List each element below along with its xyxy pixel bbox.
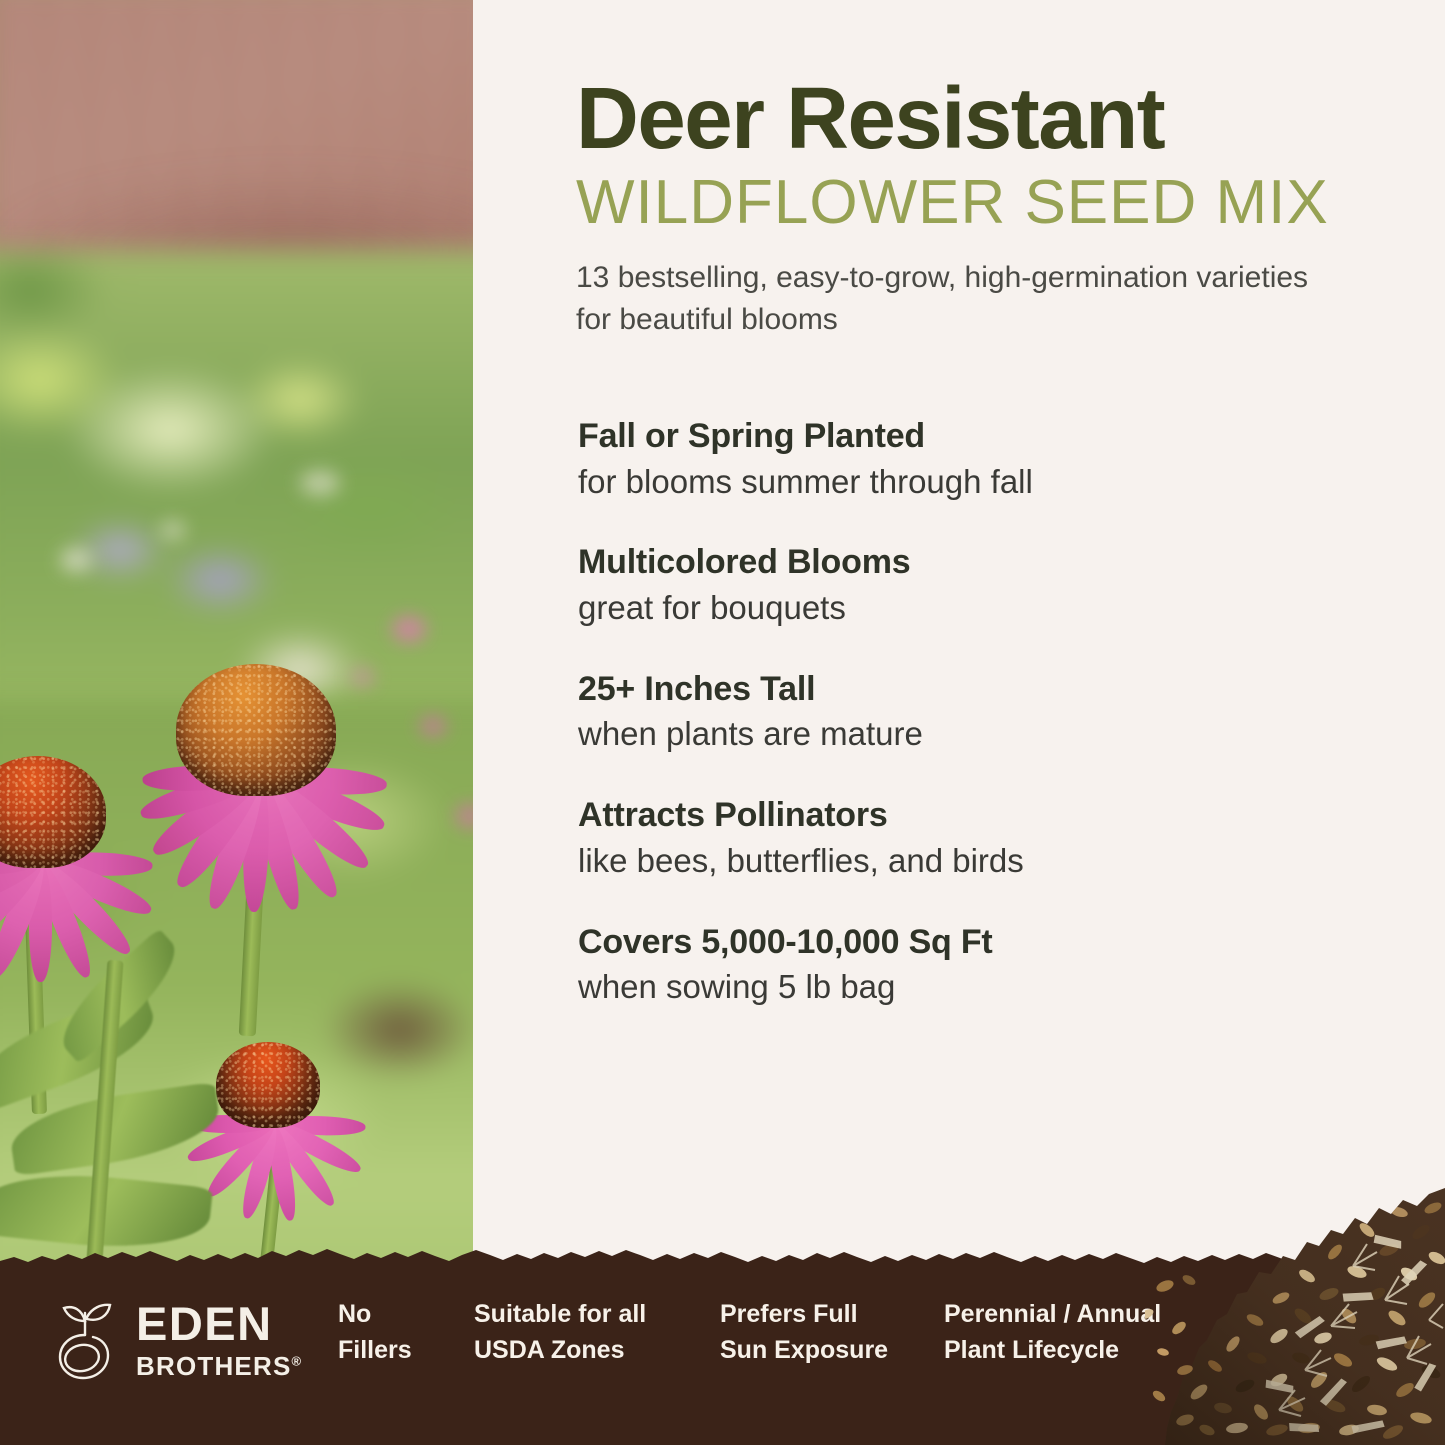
feature-item: Attracts Pollinators like bees, butterfl… — [578, 794, 1398, 882]
footer-item-line2: Plant Lifecycle — [944, 1333, 1161, 1369]
footer-item-line1: Prefers Full — [720, 1297, 888, 1333]
footer-item-line1: Suitable for all — [474, 1297, 646, 1333]
flower-cone-center — [0, 756, 106, 868]
distant-bloom — [60, 548, 92, 572]
eden-brothers-logo[interactable]: EDEN BROTHERS® — [48, 1295, 302, 1383]
feature-subtitle: great for bouquets — [578, 587, 1398, 630]
footer-content: EDEN BROTHERS® No Fillers Suitable for a… — [0, 1235, 1445, 1445]
content-panel: Deer Resistant WILDFLOWER SEED MIX 13 be… — [473, 0, 1445, 1445]
footer-item-usda-zones: Suitable for all USDA Zones — [474, 1297, 646, 1368]
feature-item: Covers 5,000-10,000 Sq Ft when sowing 5 … — [578, 921, 1398, 1009]
footer-bar: EDEN BROTHERS® No Fillers Suitable for a… — [0, 1235, 1445, 1445]
flower-cone-center — [176, 664, 336, 796]
footer-item-plant-lifecycle: Perennial / Annual Plant Lifecycle — [944, 1297, 1161, 1368]
footer-item-line2: USDA Zones — [474, 1333, 646, 1369]
feature-title: Multicolored Blooms — [578, 541, 1398, 584]
product-photo — [0, 0, 473, 1302]
feature-subtitle: when sowing 5 lb bag — [578, 966, 1398, 1009]
feature-subtitle: when plants are mature — [578, 713, 1398, 756]
footer-item-line2: Sun Exposure — [720, 1333, 888, 1369]
feature-item: 25+ Inches Tall when plants are mature — [578, 668, 1398, 756]
feature-list: Fall or Spring Planted for blooms summer… — [578, 415, 1398, 1009]
product-infographic: Deer Resistant WILDFLOWER SEED MIX 13 be… — [0, 0, 1445, 1445]
page-subtitle: WILDFLOWER SEED MIX — [576, 170, 1426, 235]
title-block: Deer Resistant WILDFLOWER SEED MIX 13 be… — [576, 75, 1426, 342]
feature-item: Multicolored Blooms great for bouquets — [578, 541, 1398, 629]
logo-wordmark: EDEN BROTHERS® — [136, 1300, 302, 1379]
feature-title: Attracts Pollinators — [578, 794, 1398, 837]
distant-bloom — [420, 716, 446, 736]
distant-bloom — [300, 470, 340, 496]
logo-eden-text: EDEN — [136, 1300, 302, 1347]
feature-title: Fall or Spring Planted — [578, 415, 1398, 458]
feature-subtitle: like bees, butterflies, and birds — [578, 840, 1398, 883]
sprouting-seed-icon — [48, 1295, 122, 1383]
feature-subtitle: for blooms summer through fall — [578, 461, 1398, 504]
footer-item-no-fillers: No Fillers — [338, 1297, 412, 1368]
logo-brothers-text: BROTHERS® — [136, 1353, 302, 1379]
feature-item: Fall or Spring Planted for blooms summer… — [578, 415, 1398, 503]
footer-item-sun-exposure: Prefers Full Sun Exposure — [720, 1297, 888, 1368]
flower-cone-center — [216, 1042, 320, 1128]
footer-item-line1: Perennial / Annual — [944, 1297, 1161, 1333]
page-title: Deer Resistant — [576, 75, 1426, 164]
footer-item-line1: No — [338, 1297, 412, 1333]
distant-bloom — [160, 520, 186, 540]
product-description: 13 bestselling, easy-to-grow, high-germi… — [576, 257, 1316, 342]
feature-title: Covers 5,000-10,000 Sq Ft — [578, 921, 1398, 964]
footer-item-line2: Fillers — [338, 1333, 412, 1369]
feature-title: 25+ Inches Tall — [578, 668, 1398, 711]
